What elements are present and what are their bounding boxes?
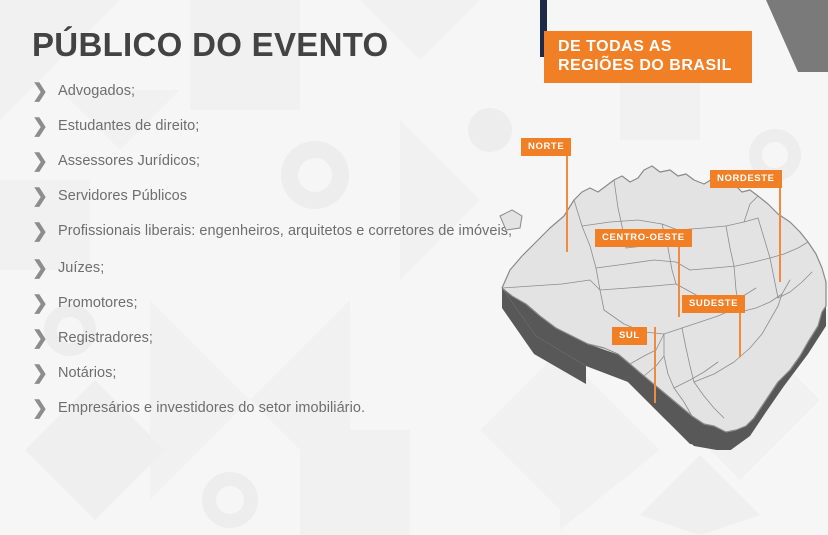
- left-content-column: PÚBLICO DO EVENTO ❯ Advogados; ❯ Estudan…: [0, 0, 520, 535]
- list-item-label: Empresários e investidores do setor imob…: [58, 398, 365, 419]
- list-item-label: Advogados;: [58, 81, 135, 102]
- chevron-right-icon: ❯: [32, 222, 58, 242]
- slide-public-do-evento: PÚBLICO DO EVENTO ❯ Advogados; ❯ Estudan…: [0, 0, 828, 535]
- list-item: ❯ Notários;: [32, 363, 520, 387]
- banner-line-1: DE TODAS AS: [558, 38, 738, 57]
- list-item-label: Notários;: [58, 363, 116, 384]
- leader-line-sul: [654, 327, 656, 403]
- chevron-right-icon: ❯: [32, 117, 58, 137]
- list-item: ❯ Estudantes de direito;: [32, 116, 520, 140]
- map-label-norte[interactable]: NORTE: [521, 138, 571, 156]
- list-item-label: Assessores Jurídicos;: [58, 151, 200, 172]
- map-label-sul[interactable]: SUL: [612, 327, 647, 345]
- list-item-label: Profissionais liberais: engenheiros, arq…: [58, 221, 512, 242]
- list-item: ❯ Registradores;: [32, 328, 520, 352]
- chevron-right-icon: ❯: [32, 187, 58, 207]
- list-item: ❯ Advogados;: [32, 81, 520, 105]
- map-label-centro-oeste[interactable]: CENTRO-OESTE: [595, 229, 692, 247]
- chevron-right-icon: ❯: [32, 294, 58, 314]
- audience-list: ❯ Advogados; ❯ Estudantes de direito; ❯ …: [32, 81, 520, 422]
- chevron-right-icon: ❯: [32, 259, 58, 279]
- chevron-right-icon: ❯: [32, 329, 58, 349]
- chevron-right-icon: ❯: [32, 399, 58, 419]
- page-title: PÚBLICO DO EVENTO: [32, 28, 520, 63]
- list-item-label: Registradores;: [58, 328, 153, 349]
- list-item: ❯ Empresários e investidores do setor im…: [32, 398, 520, 422]
- list-item-label: Juízes;: [58, 258, 104, 279]
- chevron-right-icon: ❯: [32, 82, 58, 102]
- chevron-right-icon: ❯: [32, 364, 58, 384]
- list-item-label: Promotores;: [58, 293, 138, 314]
- chevron-right-icon: ❯: [32, 152, 58, 172]
- list-item: ❯ Servidores Públicos: [32, 186, 520, 210]
- map-label-sudeste[interactable]: SUDESTE: [682, 295, 745, 313]
- list-item: ❯ Profissionais liberais: engenheiros, a…: [32, 221, 520, 245]
- list-item: ❯ Assessores Jurídicos;: [32, 151, 520, 175]
- banner-line-2: REGIÕES DO BRASIL: [558, 57, 738, 76]
- list-item-label: Estudantes de direito;: [58, 116, 199, 137]
- list-item: ❯ Juízes;: [32, 258, 520, 282]
- list-item: ❯ Promotores;: [32, 293, 520, 317]
- list-item-label: Servidores Públicos: [58, 186, 187, 207]
- banner-regioes-do-brasil: DE TODAS AS REGIÕES DO BRASIL: [544, 31, 752, 83]
- map-label-nordeste[interactable]: NORDESTE: [710, 170, 782, 188]
